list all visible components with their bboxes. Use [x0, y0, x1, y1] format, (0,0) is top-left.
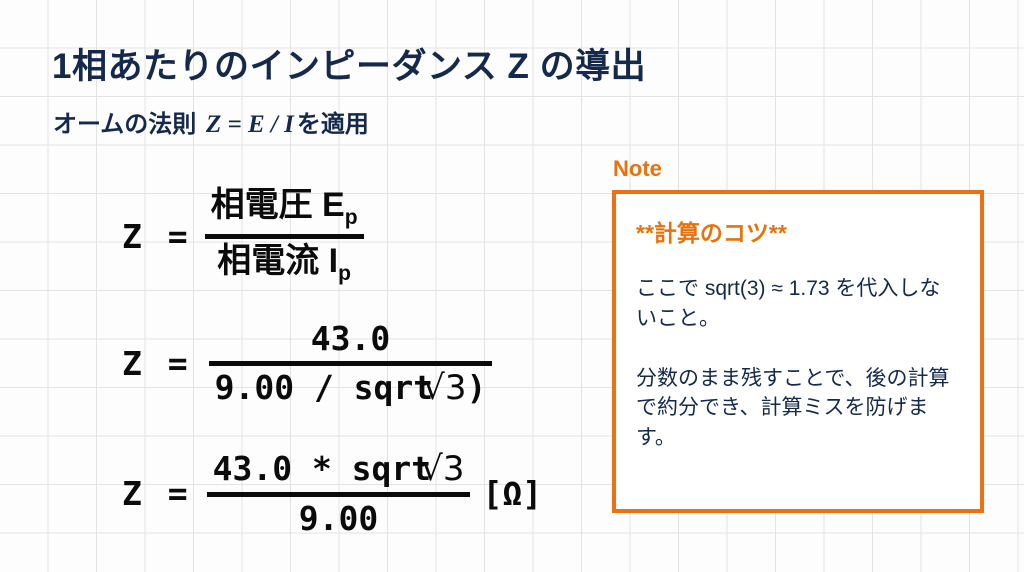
note-box: **計算のコツ** ここで sqrt(3) ≈ 1.73 を代入しないこと。 分…	[612, 190, 984, 513]
equation-3-numerator: 43.0 * sqrt√3	[207, 450, 471, 489]
equation-1-fraction: 相電圧 Ep 相電流 Ip	[205, 186, 364, 286]
equation-2: Z = 43.0 9.00 / sqrt√3)	[122, 320, 492, 407]
equation-1-denominator: 相電流 Ip	[211, 242, 357, 287]
subtitle-formula: Z = E / I	[203, 111, 297, 138]
subtitle-prefix: オームの法則	[53, 111, 203, 138]
equation-1-numerator-subscript: p	[345, 206, 358, 229]
equation-3-denominator: 9.00	[293, 500, 384, 538]
equation-2-lhs: Z =	[122, 347, 191, 380]
equation-3-lhs: Z =	[122, 477, 191, 510]
equation-2-denominator-text: 9.00 / sqrt	[215, 368, 434, 407]
note-label: Note	[613, 156, 662, 182]
equation-2-fraction: 43.0 9.00 / sqrt√3)	[209, 320, 493, 407]
equation-3: Z = 43.0 * sqrt√3 9.00 [Ω]	[122, 450, 542, 537]
page-title: 1相あたりのインピーダンス Z の導出	[52, 38, 646, 89]
note-paragraph-1: ここで sqrt(3) ≈ 1.73 を代入しないこと。	[636, 274, 960, 334]
equation-1-numerator: 相電圧 Ep	[205, 186, 364, 231]
equation-2-fraction-bar	[209, 361, 493, 366]
sqrt-radical-icon: √3	[423, 370, 466, 407]
page-subtitle: オームの法則 Z = E / Iを適用	[53, 104, 369, 139]
equation-1-lhs: Z =	[122, 220, 191, 253]
sqrt-radical-icon: √3	[421, 451, 464, 488]
equation-2-denominator: 9.00 / sqrt√3)	[209, 369, 493, 408]
equation-1-numerator-text: 相電圧 E	[211, 186, 345, 224]
equation-3-numerator-text: 43.0 * sqrt	[213, 449, 432, 488]
equation-3-fraction: 43.0 * sqrt√3 9.00	[207, 450, 471, 537]
equation-2-denominator-tail: )	[466, 368, 486, 407]
slide-canvas: 1相あたりのインピーダンス Z の導出 オームの法則 Z = E / Iを適用 …	[0, 0, 1024, 572]
equation-1-denominator-text: 相電流 I	[217, 242, 338, 280]
equation-1-denominator-subscript: p	[338, 261, 351, 284]
note-paragraph-2: 分数のまま残すことで、後の計算で約分でき、計算ミスを防げます。	[636, 364, 960, 453]
equation-2-numerator: 43.0	[305, 320, 396, 358]
equation-1-fraction-bar	[205, 234, 364, 239]
note-heading: **計算のコツ**	[636, 214, 960, 248]
subtitle-suffix: を適用	[297, 111, 369, 138]
equation-1: Z = 相電圧 Ep 相電流 Ip	[122, 186, 364, 286]
equation-3-unit: [Ω]	[482, 474, 542, 513]
equation-3-fraction-bar	[207, 492, 471, 497]
